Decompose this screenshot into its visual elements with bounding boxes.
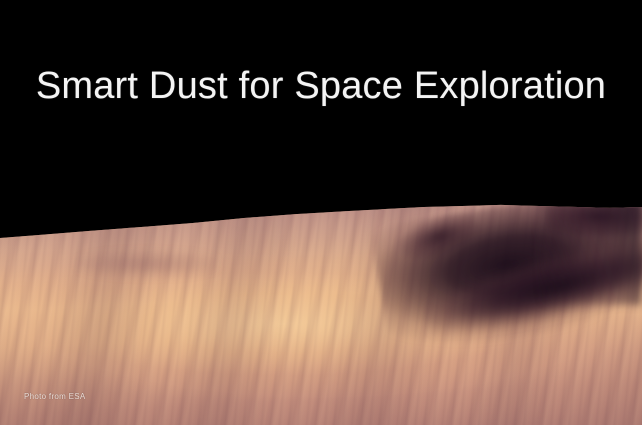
- photo-credit-caption: Photo from ESA: [24, 392, 86, 402]
- slide-title: Smart Dust for Space Exploration: [0, 64, 642, 108]
- presentation-slide: Smart Dust for Space Exploration Photo f…: [0, 0, 642, 425]
